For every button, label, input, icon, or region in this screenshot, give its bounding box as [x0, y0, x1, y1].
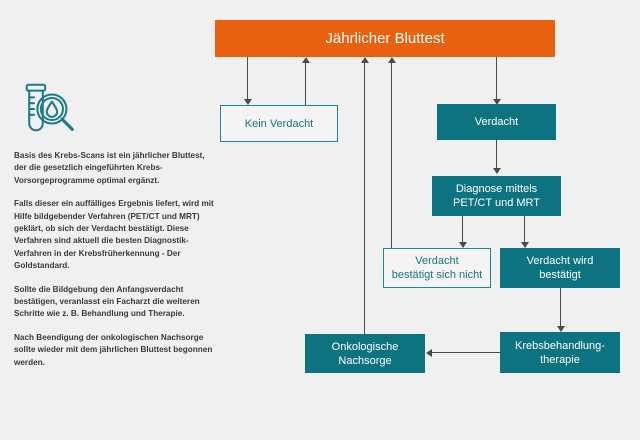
- node-cancer-treatment-therapy-label-line2: therapie: [515, 353, 605, 367]
- node-oncological-aftercare-label-line2: Nachsorge: [332, 354, 399, 368]
- connector-no-suspicion-to-header: [305, 63, 306, 105]
- arrowhead-no-suspicion-to-header: [302, 57, 310, 63]
- node-suspicion-confirmed-label-line1: Verdacht wird: [527, 254, 594, 268]
- connector-confirmed-to-treatment: [560, 288, 561, 326]
- node-suspicion-confirmed-label-line2: bestätigt: [527, 268, 594, 282]
- node-oncological-aftercare[interactable]: Onkologische Nachsorge: [305, 334, 425, 373]
- node-suspicion-not-confirmed[interactable]: Verdacht bestätigt sich nicht: [383, 248, 491, 288]
- info-panel: Basis des Krebs-Scans ist ein jährlicher…: [14, 78, 214, 369]
- node-diagnosis-label-line2: PET/CT und MRT: [453, 196, 540, 210]
- node-suspicion-label: Verdacht: [475, 115, 518, 129]
- node-cancer-treatment-therapy-label-line1: Krebsbehandlung-: [515, 339, 605, 353]
- connector-diagnosis-to-confirmed: [524, 216, 525, 242]
- node-suspicion-not-confirmed-label-line1: Verdacht: [392, 254, 483, 268]
- arrowhead-suspicion-to-diagnosis: [493, 168, 501, 174]
- blood-test-tube-magnifier-icon: [18, 78, 80, 140]
- connector-header-to-no-suspicion: [247, 57, 248, 99]
- node-diagnosis-label-line1: Diagnose mittels: [453, 182, 540, 196]
- node-suspicion-confirmed[interactable]: Verdacht wird bestätigt: [500, 248, 620, 288]
- arrowhead-treatment-to-aftercare: [426, 349, 432, 357]
- arrowhead-not-confirmed-to-header: [388, 57, 396, 63]
- info-paragraph-4: Nach Beendigung der onkologischen Nachso…: [14, 332, 214, 369]
- connector-not-confirmed-to-header: [391, 63, 392, 248]
- arrowhead-aftercare-to-header: [361, 57, 369, 63]
- node-suspicion-not-confirmed-label-line2: bestätigt sich nicht: [392, 268, 483, 282]
- node-annual-blood-test-label: Jährlicher Bluttest: [325, 32, 444, 46]
- node-no-suspicion[interactable]: Kein Verdacht: [220, 105, 338, 142]
- flowchart-infographic: Basis des Krebs-Scans ist ein jährlicher…: [0, 0, 640, 440]
- node-no-suspicion-label: Kein Verdacht: [245, 117, 314, 131]
- node-diagnosis[interactable]: Diagnose mittels PET/CT und MRT: [432, 176, 561, 216]
- connector-aftercare-to-header: [364, 63, 365, 334]
- node-cancer-treatment-therapy[interactable]: Krebsbehandlung- therapie: [500, 332, 620, 373]
- connector-diagnosis-to-not-confirmed: [462, 216, 463, 242]
- info-paragraphs: Basis des Krebs-Scans ist ein jährlicher…: [14, 150, 214, 369]
- node-suspicion[interactable]: Verdacht: [437, 104, 556, 140]
- connector-suspicion-to-diagnosis: [496, 140, 497, 168]
- info-paragraph-2: Falls dieser ein auffälliges Ergebnis li…: [14, 198, 214, 272]
- info-paragraph-1: Basis des Krebs-Scans ist ein jährlicher…: [14, 150, 214, 187]
- connector-treatment-to-aftercare: [432, 352, 500, 353]
- node-oncological-aftercare-label-line1: Onkologische: [332, 340, 399, 354]
- node-annual-blood-test[interactable]: Jährlicher Bluttest: [215, 20, 555, 57]
- info-paragraph-3: Sollte die Bildgebung den Anfangsverdach…: [14, 284, 214, 321]
- connector-header-to-suspicion: [496, 57, 497, 99]
